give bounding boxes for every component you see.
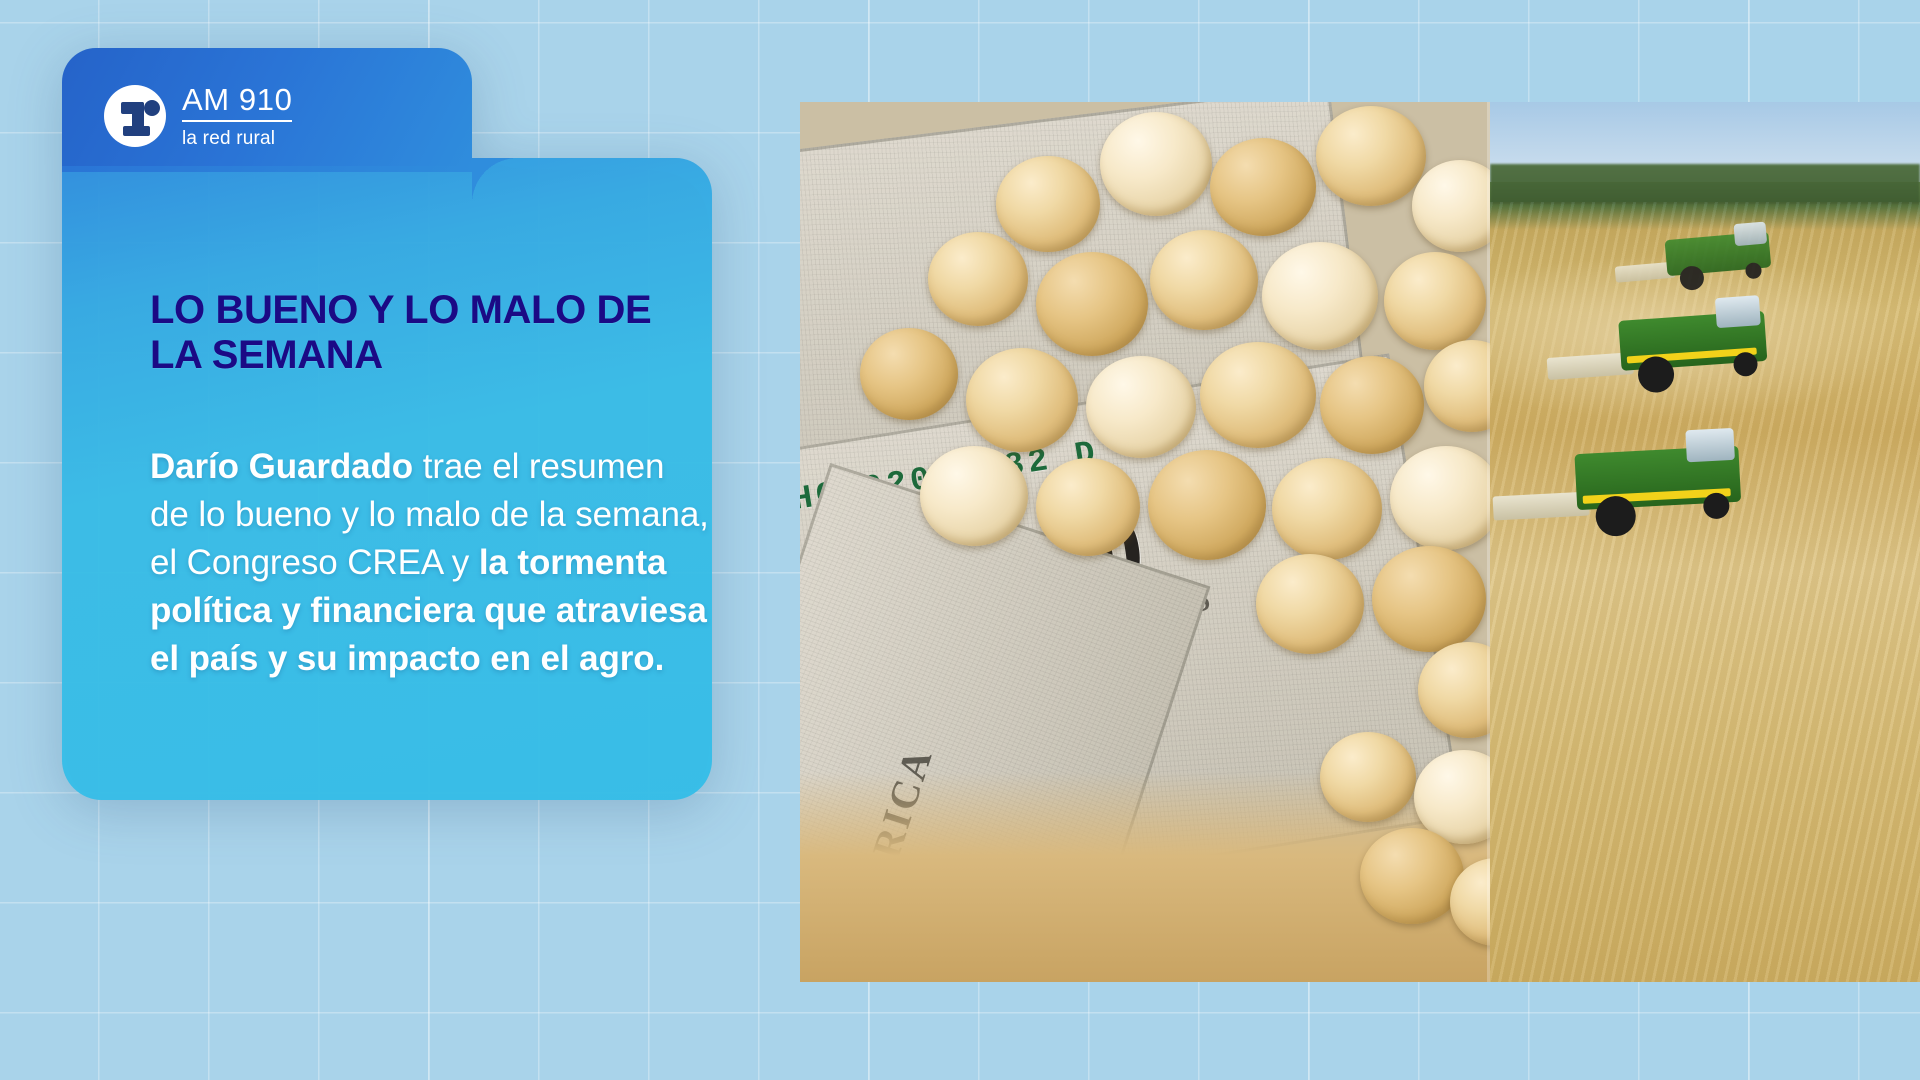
brand-logo: AM 910 la red rural [104, 84, 292, 148]
field-treeline [1490, 164, 1920, 204]
photo-soybeans-dollars: HC 02063082 D Secretary of the Treasury … [800, 102, 1500, 982]
brand-wordmark: AM 910 la red rural [182, 84, 292, 148]
info-card: AM 910 la red rural LO BUENO Y LO MALO D… [62, 48, 712, 800]
poster-canvas: HC 02063082 D Secretary of the Treasury … [0, 0, 1920, 1080]
photo-wheat-field [1490, 102, 1920, 982]
brand-tagline: la red rural [182, 129, 292, 148]
lede-emphasis: Darío Guardado [150, 447, 413, 486]
combine-harvester-near [1536, 426, 1777, 538]
headline-text: LO BUENO Y LO MALO DE LA SEMANA [150, 288, 690, 378]
combine-harvester-far [1638, 218, 1793, 293]
brand-station-name: AM 910 [182, 84, 292, 122]
combine-harvester-mid [1583, 291, 1799, 397]
lede-paragraph: Darío Guardado trae el resumen de lo bue… [150, 443, 710, 683]
am910-monogram-icon [104, 85, 166, 147]
photo-collage: HC 02063082 D Secretary of the Treasury … [800, 102, 1920, 982]
photo-divider [1487, 102, 1490, 982]
